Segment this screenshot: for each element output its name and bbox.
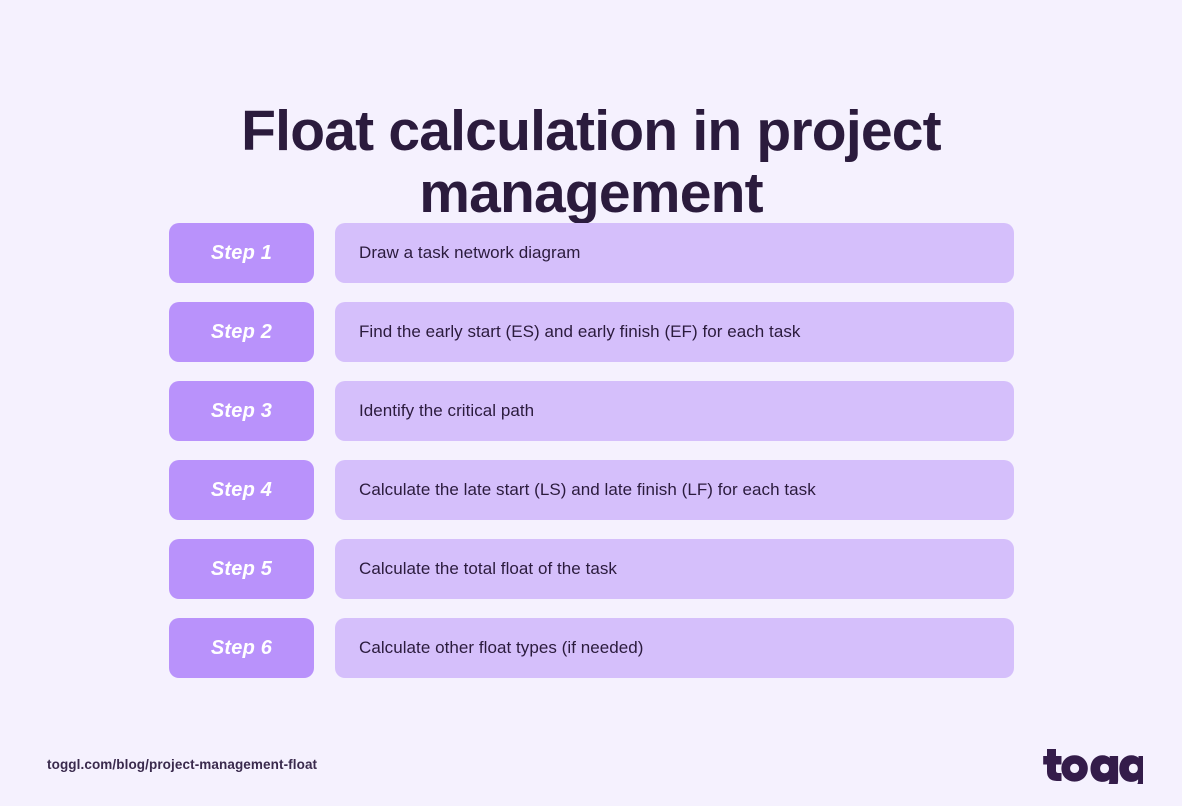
step-row: Step 3 Identify the critical path [169, 381, 1014, 441]
step-task-label: Calculate the late start (LS) and late f… [359, 480, 816, 500]
step-badge-label: Step 4 [211, 479, 272, 502]
step-task-label: Calculate the total float of the task [359, 559, 617, 579]
step-row: Step 5 Calculate the total float of the … [169, 539, 1014, 599]
step-task-5: Calculate the total float of the task [335, 539, 1014, 599]
step-badge-6: Step 6 [169, 618, 314, 678]
step-row: Step 2 Find the early start (ES) and ear… [169, 302, 1014, 362]
step-badge-1: Step 1 [169, 223, 314, 283]
step-badge-label: Step 2 [211, 321, 272, 344]
step-task-label: Draw a task network diagram [359, 243, 581, 263]
step-task-2: Find the early start (ES) and early fini… [335, 302, 1014, 362]
step-task-3: Identify the critical path [335, 381, 1014, 441]
source-url: toggl.com/blog/project-management-float [47, 757, 317, 772]
step-badge-3: Step 3 [169, 381, 314, 441]
steps-list: Step 1 Draw a task network diagram Step … [169, 223, 1014, 678]
page-title-line-2: management [0, 162, 1182, 224]
step-badge-4: Step 4 [169, 460, 314, 520]
step-row: Step 4 Calculate the late start (LS) and… [169, 460, 1014, 520]
step-row: Step 6 Calculate other float types (if n… [169, 618, 1014, 678]
step-badge-label: Step 5 [211, 558, 272, 581]
toggl-logo [1043, 738, 1143, 784]
step-badge-label: Step 1 [211, 242, 272, 265]
step-task-label: Identify the critical path [359, 401, 534, 421]
step-badge-2: Step 2 [169, 302, 314, 362]
step-task-6: Calculate other float types (if needed) [335, 618, 1014, 678]
step-badge-label: Step 6 [211, 637, 272, 660]
infographic-canvas: Float calculation in project management … [0, 0, 1182, 806]
step-task-label: Calculate other float types (if needed) [359, 638, 644, 658]
step-row: Step 1 Draw a task network diagram [169, 223, 1014, 283]
step-task-label: Find the early start (ES) and early fini… [359, 322, 800, 342]
page-title: Float calculation in project management [0, 100, 1182, 224]
step-badge-5: Step 5 [169, 539, 314, 599]
page-title-line-1: Float calculation in project [0, 100, 1182, 162]
step-task-4: Calculate the late start (LS) and late f… [335, 460, 1014, 520]
step-badge-label: Step 3 [211, 400, 272, 423]
step-task-1: Draw a task network diagram [335, 223, 1014, 283]
